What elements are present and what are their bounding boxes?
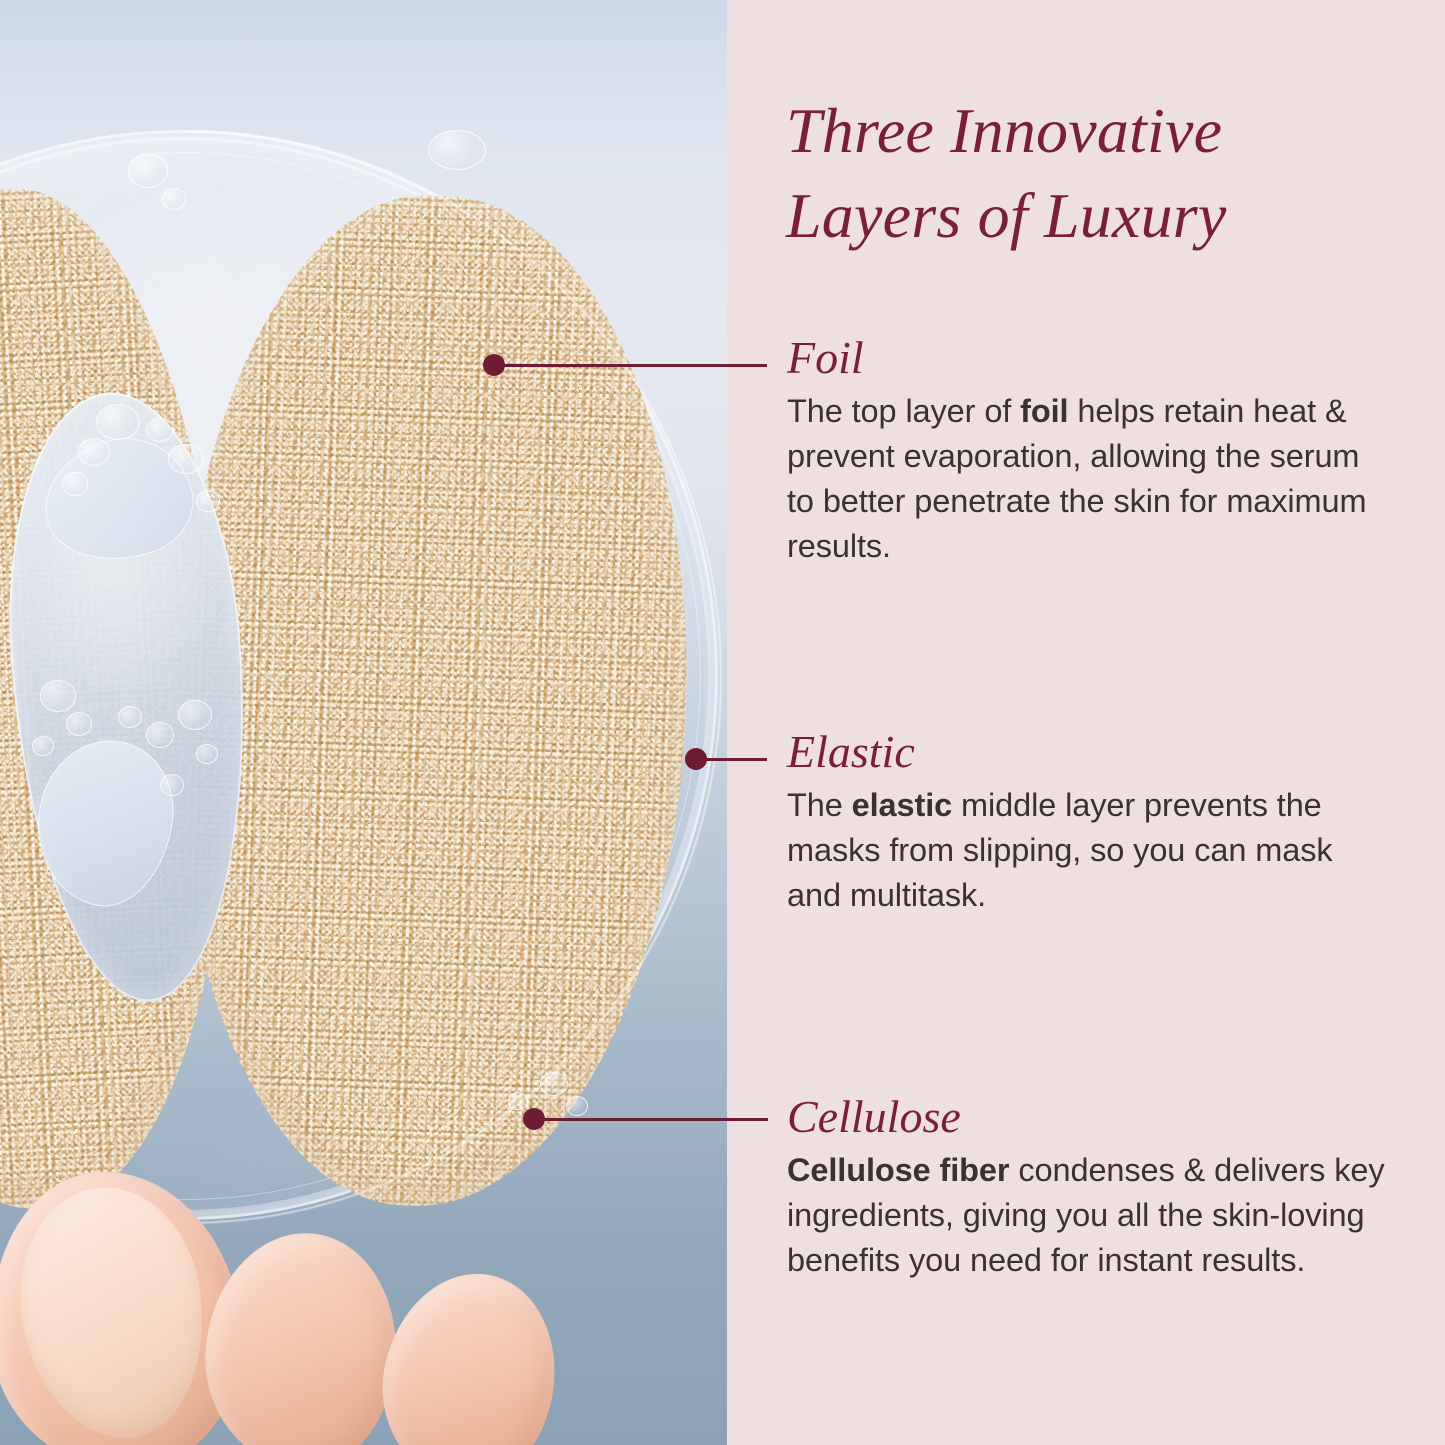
foil-heading: Foil	[787, 333, 1387, 383]
elastic-callout-dot	[685, 748, 707, 770]
foil-text-prefix: The top layer of	[787, 393, 1020, 429]
hand-holding-disc	[0, 1115, 660, 1445]
page-title: Three Innovative Layers of Luxury	[786, 88, 1406, 258]
cellulose-callout-line	[540, 1118, 768, 1121]
gel-bubble	[566, 1096, 588, 1116]
cellulose-layer-section: Cellulose Cellulose fiber condenses & de…	[787, 1092, 1387, 1283]
middle-finger	[364, 1258, 574, 1445]
elastic-text-emphasis: elastic	[852, 787, 952, 823]
cellulose-text-emphasis: Cellulose fiber	[787, 1152, 1009, 1188]
foil-layer-section: Foil The top layer of foil helps retain …	[787, 333, 1387, 569]
foil-text-emphasis: foil	[1020, 393, 1068, 429]
elastic-callout-line	[702, 758, 767, 761]
foil-callout-dot	[483, 354, 505, 376]
index-finger	[194, 1224, 408, 1445]
text-panel: Three Innovative Layers of Luxury Foil T…	[727, 0, 1445, 1445]
gel-bubble	[32, 736, 54, 756]
elastic-layer-section: Elastic The elastic middle layer prevent…	[787, 727, 1387, 918]
product-photo	[0, 0, 727, 1445]
elastic-heading: Elastic	[787, 727, 1387, 777]
foil-callout-line	[500, 364, 767, 367]
gel-bubble	[40, 680, 76, 712]
gel-bubble	[96, 404, 140, 440]
elastic-text-prefix: The	[787, 787, 852, 823]
cellulose-description: Cellulose fiber condenses & delivers key…	[787, 1148, 1387, 1284]
cellulose-heading: Cellulose	[787, 1092, 1387, 1142]
gel-bubble	[62, 472, 88, 496]
gel-bubble	[428, 130, 486, 170]
foil-description: The top layer of foil helps retain heat …	[787, 389, 1387, 570]
cellulose-callout-dot	[523, 1108, 545, 1130]
product-infographic: Three Innovative Layers of Luxury Foil T…	[0, 0, 1445, 1445]
gel-bubble	[66, 712, 92, 736]
gel-bubble	[118, 706, 142, 728]
gel-bubble	[78, 438, 110, 466]
elastic-description: The elastic middle layer prevents the ma…	[787, 783, 1387, 919]
